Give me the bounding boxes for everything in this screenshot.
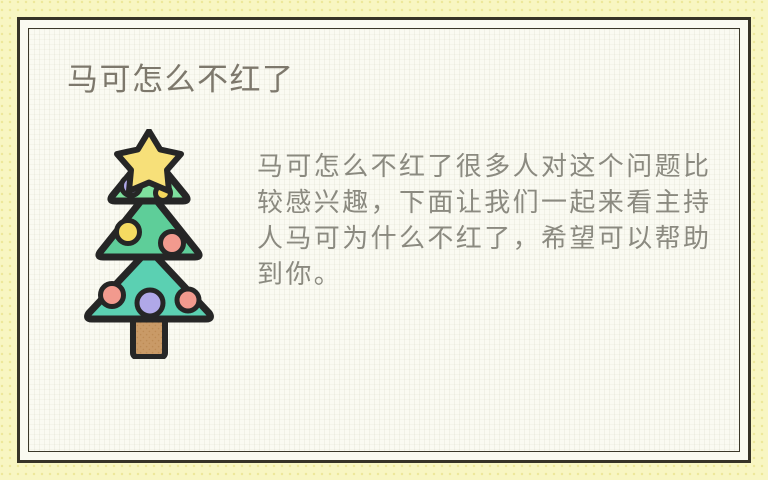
body-paragraph: 马可怎么不红了很多人对这个问题比较感兴趣，下面让我们一起来看主持人马可为什么不红…: [257, 149, 723, 293]
content-row: 马可怎么不红了很多人对这个问题比较感兴趣，下面让我们一起来看主持人马可为什么不红…: [29, 125, 739, 385]
outer-frame-border: 马可怎么不红了: [17, 17, 751, 463]
christmas-tree-illustration: [61, 129, 241, 359]
inner-frame-border: 马可怎么不红了: [28, 28, 740, 452]
poster-card: 马可怎么不红了: [0, 0, 768, 480]
page-title: 马可怎么不红了: [67, 60, 295, 100]
